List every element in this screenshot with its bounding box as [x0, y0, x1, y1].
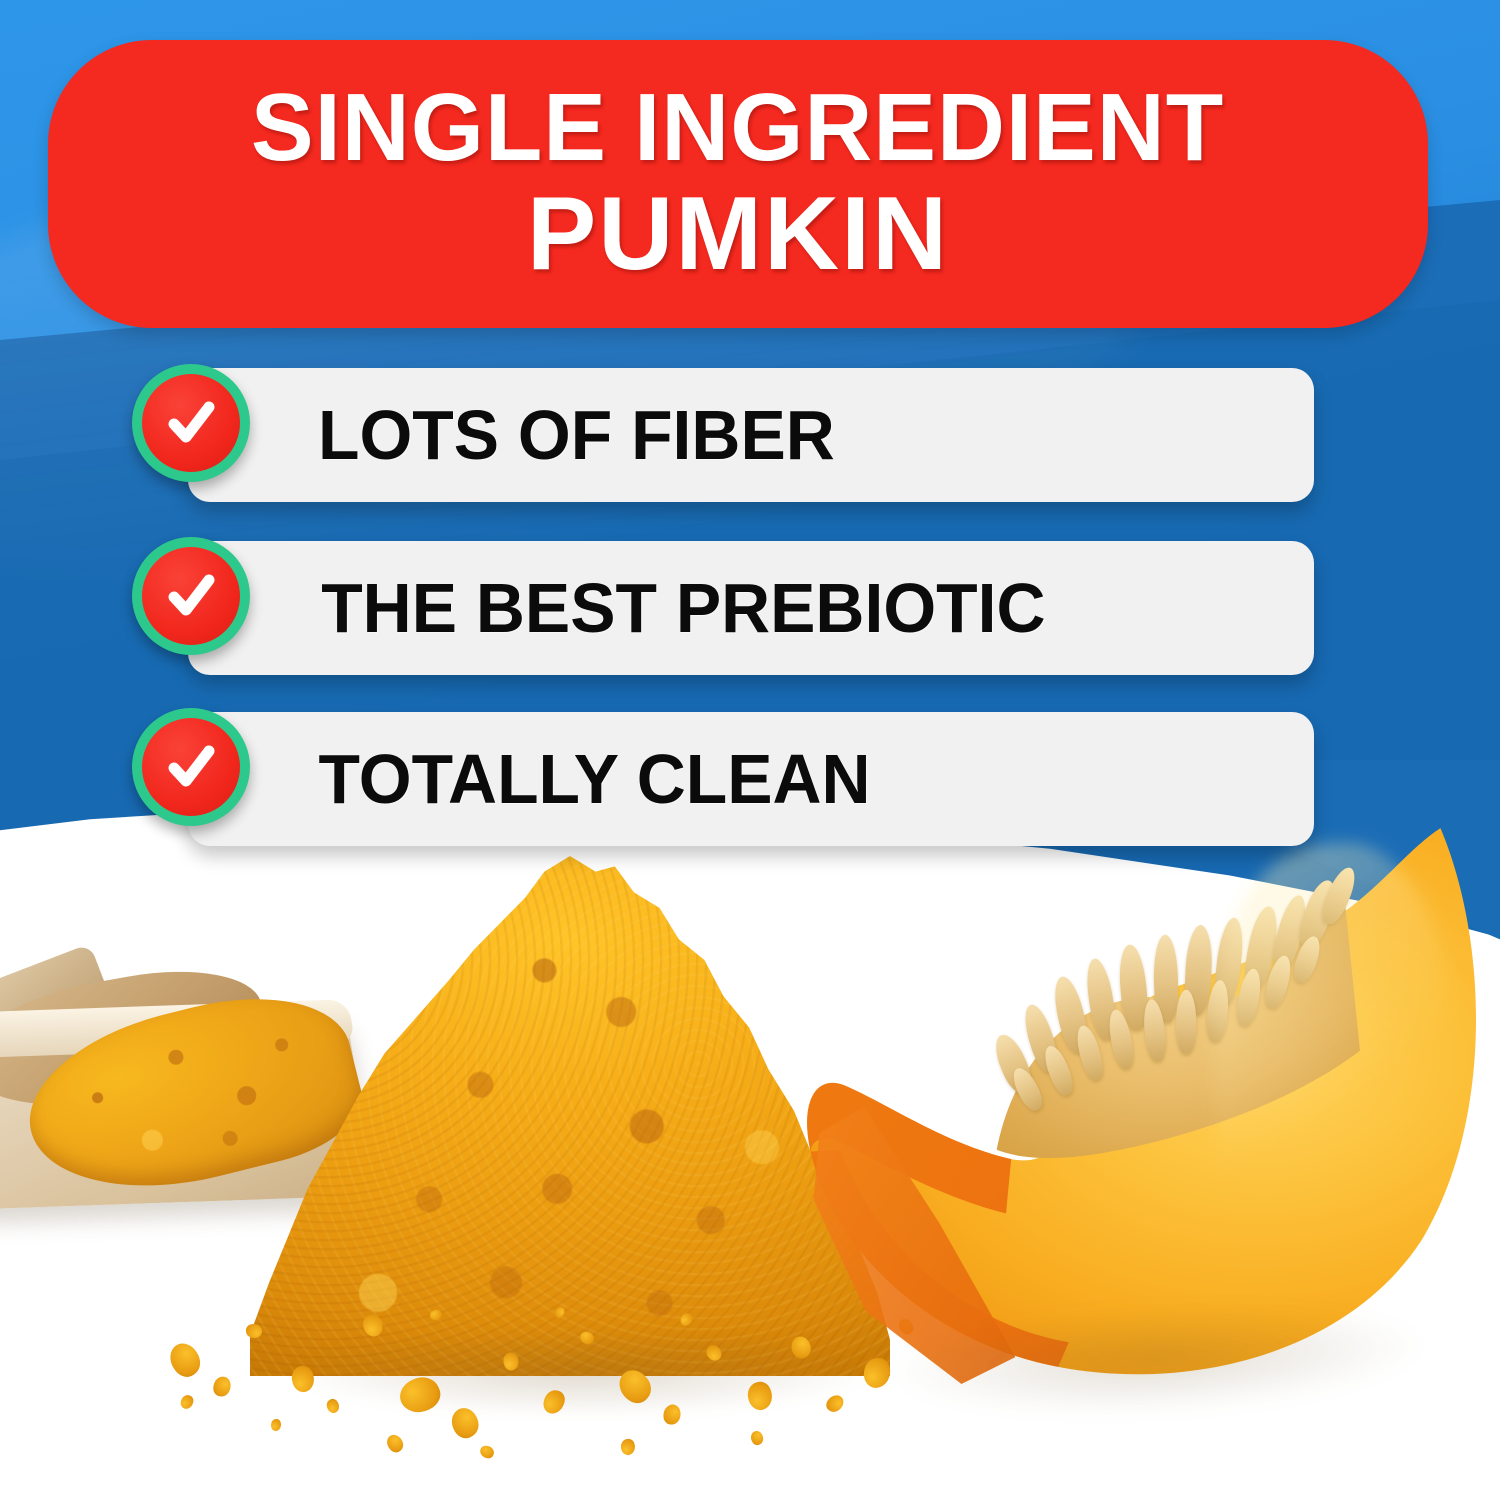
- feature-card: TOTALLY CLEAN: [188, 712, 1314, 846]
- powder-crumb: [613, 1364, 658, 1408]
- powder-crumb: [502, 1351, 521, 1372]
- product-infographic: SINGLE INGREDIENT PUMKIN LOTS OF FIBER: [0, 0, 1500, 1500]
- feature-label: TOTALLY CLEAN: [319, 739, 871, 819]
- feature-row-the-best-prebiotic: THE BEST PREBIOTIC: [188, 541, 1314, 675]
- powder-crumb: [212, 1375, 232, 1397]
- feature-card: LOTS OF FIBER: [188, 368, 1314, 502]
- powder-crumb: [620, 1438, 637, 1456]
- powder-crumb: [164, 1338, 207, 1382]
- check-icon: [132, 364, 250, 482]
- powder-crumb: [289, 1363, 317, 1394]
- powder-crumb: [271, 1419, 281, 1431]
- powder-crumb: [553, 1305, 566, 1319]
- powder-crumb: [395, 1371, 446, 1419]
- product-photo: [0, 820, 1500, 1500]
- powder-crumb: [678, 1311, 694, 1328]
- powder-crumb: [429, 1308, 444, 1322]
- powder-crumb: [383, 1432, 406, 1455]
- powder-crumb: [324, 1397, 341, 1415]
- check-icon: [132, 537, 250, 655]
- powder-crumb: [478, 1444, 495, 1460]
- feature-row-totally-clean: TOTALLY CLEAN: [188, 712, 1314, 846]
- powder-crumb: [359, 1311, 386, 1339]
- powder-crumb: [749, 1429, 766, 1447]
- powder-crumb: [579, 1330, 596, 1345]
- check-icon: [132, 708, 250, 826]
- powder-crumb: [245, 1323, 262, 1339]
- powder-crumb: [179, 1393, 195, 1410]
- feature-card: THE BEST PREBIOTIC: [188, 541, 1314, 675]
- feature-row-lots-of-fiber: LOTS OF FIBER: [188, 368, 1314, 502]
- feature-label: LOTS OF FIBER: [318, 395, 835, 475]
- powder-crumb: [703, 1342, 724, 1363]
- powder-crumb: [540, 1387, 567, 1416]
- powder-crumb: [446, 1404, 484, 1443]
- feature-label: THE BEST PREBIOTIC: [321, 568, 1045, 648]
- powder-crumb: [745, 1379, 776, 1413]
- powder-crumb: [663, 1404, 681, 1425]
- pumpkin-wedge-slice: [781, 820, 1500, 1412]
- feature-list: LOTS OF FIBER THE BEST PREBIOTIC: [0, 0, 1500, 900]
- pumpkin-seed-fiber: [1176, 990, 1196, 1054]
